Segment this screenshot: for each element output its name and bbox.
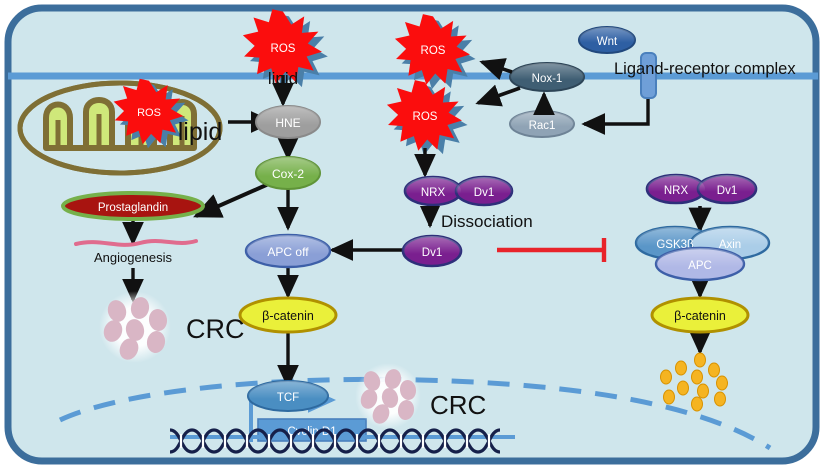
ros-top-label: ROS xyxy=(271,43,296,55)
nrx-left-label: NRX xyxy=(421,187,446,199)
pathway-diagram: ROS ROS ROS ROS lipid lipid xyxy=(0,0,824,469)
cancer-cell-cluster-icon xyxy=(99,291,171,363)
ros-inside-label: ROS xyxy=(413,111,438,123)
beta-catenin-right-label: β-catenin xyxy=(674,309,726,323)
dv1-left-label: Dv1 xyxy=(474,187,494,199)
tcf-label: TCF xyxy=(277,392,299,404)
angiogenesis-label: Angiogenesis xyxy=(94,250,173,265)
ros-outside-label: ROS xyxy=(421,45,446,57)
crc-left-label: CRC xyxy=(186,314,245,344)
lipid-mito-label: lipid xyxy=(178,118,222,146)
dissociation-label: Dissociation xyxy=(441,212,533,231)
crc-nucleus-label: CRC xyxy=(430,390,486,420)
beta-catenin-left-label: β-catenin xyxy=(262,309,314,323)
prostaglandin-label: Prostaglandin xyxy=(98,202,168,214)
apc-label: APC xyxy=(688,260,712,272)
nrx-right-label: NRX xyxy=(664,185,689,197)
nox1-label: Nox-1 xyxy=(532,73,563,85)
dv1-free-label: Dv1 xyxy=(422,247,442,259)
cox2-label: Cox-2 xyxy=(272,167,304,181)
wnt-label: Wnt xyxy=(597,36,618,48)
ligand-receptor-label: Ligand-receptor complex xyxy=(614,60,796,78)
cancer-cell-cluster-icon xyxy=(355,363,421,429)
apc-off-label: APC off xyxy=(267,245,309,259)
rac1-label: Rac1 xyxy=(529,120,556,132)
dv1-right-label: Dv1 xyxy=(717,185,737,197)
hne-label: HNE xyxy=(275,116,300,130)
ros-mito-label: ROS xyxy=(137,107,161,119)
